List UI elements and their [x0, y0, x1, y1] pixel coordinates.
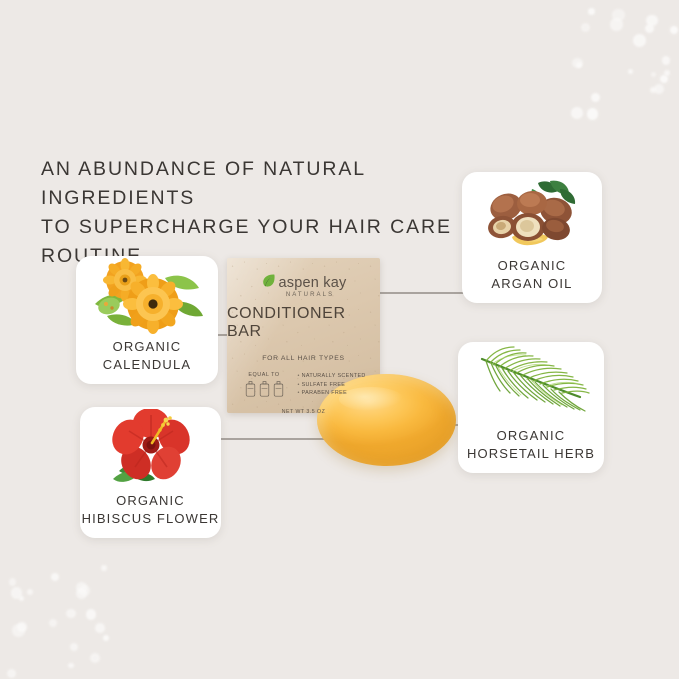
page-title: AN ABUNDANCE OF NATURAL INGREDIENTS TO S… [41, 155, 511, 271]
brand-subtitle: NATURALS [286, 292, 334, 298]
connector-line-hibiscus [212, 438, 338, 440]
leaf-icon [261, 273, 276, 293]
ingredient-card-hibiscus[interactable]: ORGANIC HIBISCUS FLOWER [80, 407, 221, 538]
ingredient-label: ORGANIC CALENDULA [76, 338, 218, 384]
ingredient-label: ORGANIC HORSETAIL HERB [458, 427, 604, 473]
net-weight-label: NET WT 3.5 OZ [282, 409, 326, 415]
claim-item: SULFATE FREE [298, 382, 366, 388]
hibiscus-flower-icon [80, 407, 221, 492]
decorative-dots-bottom-left [0, 564, 120, 679]
argan-nuts-icon [462, 172, 602, 257]
ingredient-label: ORGANIC ARGAN OIL [462, 257, 602, 303]
claim-item: NATURALLY SCENTED [298, 373, 366, 379]
product-title: CONDITIONER BAR [227, 305, 380, 341]
ingredient-card-horsetail[interactable]: ORGANIC HORSETAIL HERB [458, 342, 604, 473]
infographic-canvas: AN ABUNDANCE OF NATURAL INGREDIENTS TO S… [0, 0, 679, 679]
horsetail-herb-icon [458, 342, 604, 427]
connector-line-argan [373, 292, 471, 294]
calendula-flower-icon [76, 256, 218, 338]
ingredient-card-calendula[interactable]: ORGANIC CALENDULA [76, 256, 218, 384]
ingredient-card-argan-oil[interactable]: ORGANIC ARGAN OIL [462, 172, 602, 303]
hair-types-label: FOR ALL HAIR TYPES [262, 355, 344, 362]
bottle-icons-group [245, 381, 284, 402]
scent-label: LEMONGRASS & SWEET ORANGE [244, 345, 364, 352]
claims-list: NATURALLY SCENTED SULFATE FREE PARABEN F… [298, 372, 366, 402]
bottle-icon [259, 381, 270, 402]
decorative-dots-top-right [569, 0, 679, 120]
bottle-icon [273, 381, 284, 402]
ingredient-label: ORGANIC HIBISCUS FLOWER [80, 492, 221, 538]
equal-to-group: EQUAL TO [245, 372, 284, 402]
claim-item: PARABEN FREE [298, 390, 366, 396]
brand-lockup: aspen kay [261, 274, 347, 291]
product-box: aspen kay NATURALS CONDITIONER BAR LEMON… [227, 258, 380, 413]
brand-name: aspen kay [279, 275, 347, 291]
bottle-icon [245, 381, 256, 402]
equal-to-label: EQUAL TO [248, 372, 279, 378]
